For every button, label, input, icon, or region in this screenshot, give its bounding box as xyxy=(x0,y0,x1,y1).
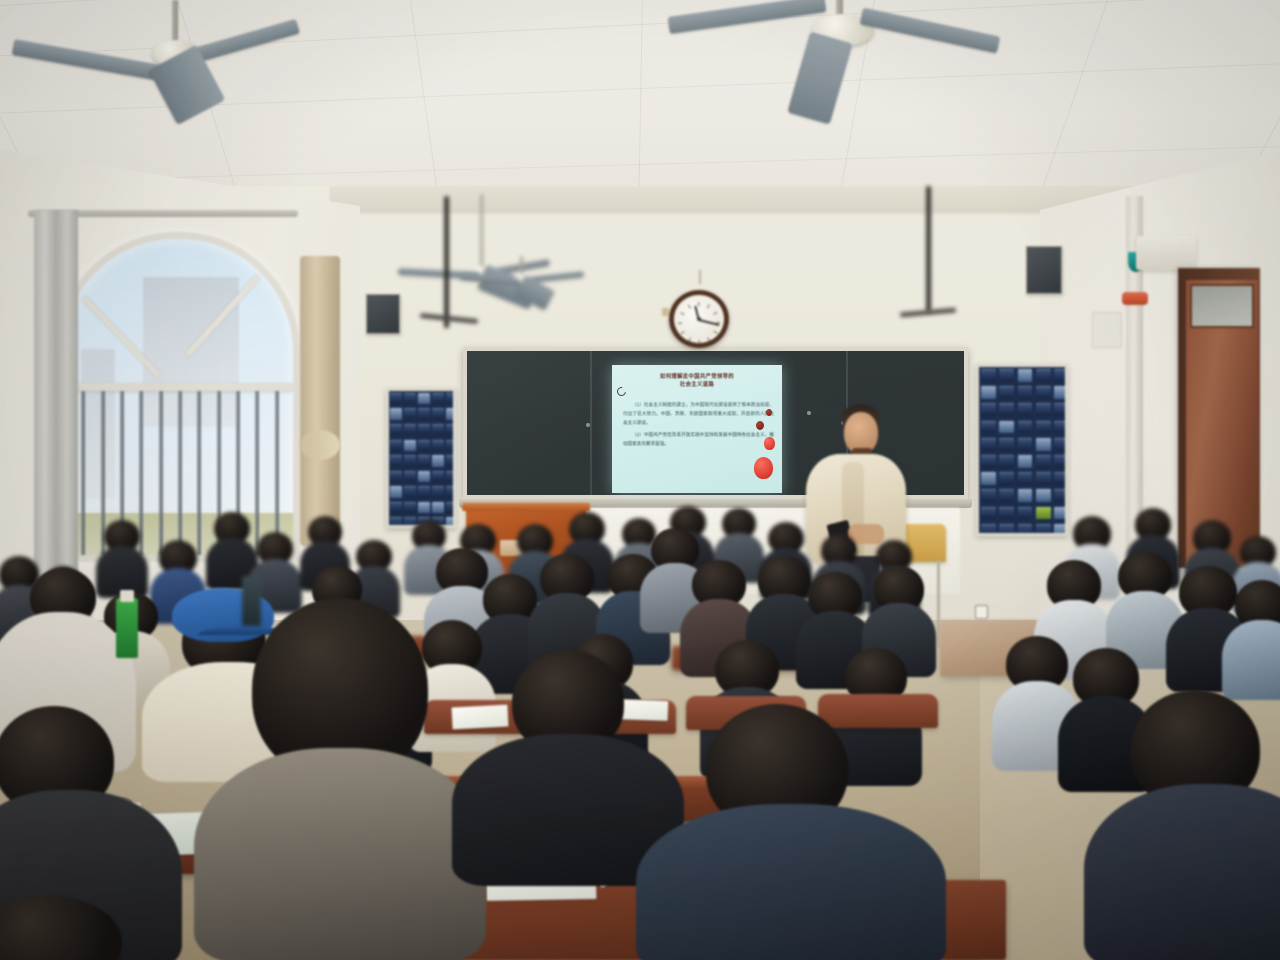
blackboard-screw xyxy=(586,423,590,427)
phone-pocket xyxy=(981,438,996,451)
phone-pocket xyxy=(446,502,456,514)
clock-knob xyxy=(662,308,669,316)
clock-tick xyxy=(707,337,710,341)
phone-pocket xyxy=(1054,455,1068,468)
blackboard-seam xyxy=(590,351,592,495)
student-bottom-edge-left xyxy=(0,896,124,960)
wall-clock xyxy=(669,282,731,348)
clock-tick xyxy=(707,304,710,308)
phone-pocket xyxy=(446,408,456,420)
window xyxy=(56,232,300,562)
phone-pocket xyxy=(446,393,456,405)
phone-pocket xyxy=(1036,421,1051,434)
clock-tick xyxy=(698,302,699,306)
classroom-photo: 如何理解走中国共产党领导的 社会主义道路 （1）社会主义制度的建立，为中国现代化… xyxy=(0,0,1280,960)
window-transom-bar xyxy=(63,383,293,391)
phone-pocket xyxy=(404,471,415,483)
fan-rear xyxy=(486,256,596,326)
fan-front-right xyxy=(740,0,1020,132)
student-torso xyxy=(636,804,946,960)
phone-pocket xyxy=(1036,472,1051,485)
phone-pocket xyxy=(1018,421,1033,434)
phone-pocket xyxy=(390,486,401,498)
slide-paragraph-1: （1）社会主义制度的建立，为中国现代化建设提供了根本政治前提、付出了巨大努力。中… xyxy=(623,401,774,428)
balloon-large-icon xyxy=(754,457,773,479)
phone-pocket xyxy=(1054,421,1068,434)
speaker-left xyxy=(366,294,400,334)
phone-pocket xyxy=(999,472,1014,485)
phone-pocket xyxy=(390,440,401,452)
phone-pocket xyxy=(418,455,429,467)
curtain-tieback xyxy=(300,430,340,460)
phone-pocket xyxy=(446,455,456,467)
phone-pocket xyxy=(999,455,1014,468)
phone-pocket xyxy=(1018,369,1033,382)
phone-pocket xyxy=(418,393,429,405)
phone-pocket xyxy=(404,424,415,436)
phone-pocket xyxy=(404,393,415,405)
phone-pocket xyxy=(432,424,443,436)
pipe-ring xyxy=(1122,292,1148,305)
phone-pocket xyxy=(1054,403,1068,416)
phone-pocket xyxy=(1018,386,1033,399)
ceiling-rod-right xyxy=(926,186,931,312)
clock-body xyxy=(669,290,729,348)
phone-pocket xyxy=(981,455,996,468)
phone-pocket xyxy=(432,440,443,452)
fan-blade xyxy=(188,19,300,64)
phone-pocket xyxy=(1018,438,1033,451)
phone-pocket xyxy=(999,386,1014,399)
clock-tick xyxy=(680,331,684,334)
phone-pocket xyxy=(981,369,996,382)
phone-pocket xyxy=(390,471,401,483)
window-bar xyxy=(81,391,85,555)
phone-pocket xyxy=(981,386,996,399)
student-torso xyxy=(1222,620,1280,700)
phone-pocket xyxy=(1036,524,1051,536)
phone-pocket xyxy=(1018,455,1033,468)
student-torso xyxy=(194,748,486,960)
ceiling-rod-left xyxy=(444,196,449,328)
phone-pocket xyxy=(981,524,996,536)
clock-center-pin xyxy=(697,317,701,321)
phone-pocket xyxy=(1018,524,1033,536)
phone-pocket xyxy=(446,440,456,452)
window-bar xyxy=(159,391,163,555)
phone-pocket xyxy=(999,369,1014,382)
phone-pocket xyxy=(432,455,443,467)
phone-pocket xyxy=(446,486,456,498)
phone-pocket xyxy=(390,517,401,528)
phone-pocket xyxy=(1018,507,1033,520)
phone-pocket xyxy=(390,408,401,420)
clock-tick xyxy=(680,312,684,315)
student-foreground-right xyxy=(1104,690,1280,960)
phone-pocket xyxy=(432,408,443,420)
phone-pocket xyxy=(404,408,415,420)
phone-pocket xyxy=(1036,438,1051,451)
slide-title-line-1: 如何理解走中国共产党领导的 xyxy=(622,373,772,381)
bottle-cap xyxy=(120,590,134,602)
phone-pocket xyxy=(1018,403,1033,416)
phone-pocket xyxy=(390,424,401,436)
phone-pocket xyxy=(390,502,401,514)
curtain-left xyxy=(34,210,78,582)
phone-pocket xyxy=(418,408,429,420)
phone-pocket xyxy=(1036,455,1051,468)
slide-title: 如何理解走中国共产党领导的 社会主义道路 xyxy=(622,373,772,390)
door-transom-window xyxy=(1190,284,1254,328)
clock-face xyxy=(677,298,721,340)
phone-pocket xyxy=(1018,472,1033,485)
phone-pocket xyxy=(432,502,443,514)
window-frame xyxy=(56,232,300,562)
phone-pocket xyxy=(1054,438,1068,451)
phone-pocket xyxy=(432,471,443,483)
phone-pocket xyxy=(404,502,415,514)
phone-pocket xyxy=(418,424,429,436)
window-bar xyxy=(178,391,182,555)
balloon-small-icon xyxy=(756,421,764,430)
phone-pocket xyxy=(418,502,429,514)
wall-patch xyxy=(1092,312,1122,348)
slide-paragraph-2: （2）中国共产党在改革开放实践中坚持和发展中国特色社会主义，推动国家走向繁荣富强… xyxy=(623,431,774,449)
phone-pocket xyxy=(404,455,415,467)
clock-tick xyxy=(713,331,717,334)
phone-pocket xyxy=(390,455,401,467)
phone-pocket xyxy=(1036,369,1051,382)
fan-front-left xyxy=(60,0,290,150)
phone-pocket xyxy=(1054,489,1068,502)
clock-tick xyxy=(688,304,691,308)
phone-pocket xyxy=(404,440,415,452)
speaker-right xyxy=(1026,246,1062,294)
fan-rod xyxy=(480,194,483,270)
pocket-board-right xyxy=(976,364,1068,536)
student-head xyxy=(0,896,122,960)
clock-tick xyxy=(678,322,682,323)
student-foreground-center-left xyxy=(204,598,464,960)
phone-pocket xyxy=(1036,507,1051,520)
phone-pocket xyxy=(999,403,1014,416)
phone-pocket xyxy=(1036,403,1051,416)
phone-pocket xyxy=(999,524,1014,536)
clock-tick xyxy=(698,340,699,344)
slide-title-line-2: 社会主义道路 xyxy=(622,381,772,389)
student-foreground-navy xyxy=(640,704,940,960)
phone-pocket xyxy=(981,489,996,502)
balloon-medium-icon xyxy=(764,437,775,450)
phone-pocket xyxy=(1054,369,1068,382)
phone-pocket xyxy=(418,486,429,498)
window-bar xyxy=(197,391,201,555)
phone-pocket xyxy=(418,440,429,452)
phone-pocket xyxy=(999,421,1014,434)
podium-top xyxy=(462,503,590,511)
window-bar xyxy=(275,391,279,555)
phone-pocket xyxy=(999,489,1014,502)
phone-pocket xyxy=(981,472,996,485)
balloon-tiny-icon xyxy=(766,409,772,416)
phone-pocket xyxy=(1054,386,1068,399)
phone-pocket xyxy=(981,403,996,416)
projected-slide: 如何理解走中国共产党领导的 社会主义道路 （1）社会主义制度的建立，为中国现代化… xyxy=(612,365,782,493)
phone-pocket xyxy=(981,421,996,434)
phone-pocket xyxy=(418,471,429,483)
slide-body: （1）社会主义制度的建立，为中国现代化建设提供了根本政治前提、付出了巨大努力。中… xyxy=(623,401,774,452)
water-bottle-green[interactable] xyxy=(116,598,138,658)
student-torso xyxy=(1084,784,1280,960)
phone-pocket xyxy=(432,393,443,405)
fan-blade xyxy=(787,32,852,125)
phone-pocket xyxy=(390,393,401,405)
phone-pocket xyxy=(999,438,1014,451)
phone-pocket xyxy=(1054,472,1068,485)
phone-pocket xyxy=(432,486,443,498)
clock-tick xyxy=(688,337,691,341)
phone-pocket xyxy=(446,424,456,436)
phone-pocket xyxy=(446,471,456,483)
curtain-right xyxy=(300,256,340,546)
phone-pocket xyxy=(1018,489,1033,502)
phone-pocket xyxy=(999,507,1014,520)
ac-unit xyxy=(1136,236,1196,270)
pocket-board-left xyxy=(386,388,456,528)
phone-pocket xyxy=(404,486,415,498)
fan-blade xyxy=(860,8,1000,54)
clock-hanger xyxy=(699,270,701,284)
clock-tick xyxy=(713,312,717,315)
window-diamond-mullion xyxy=(89,279,277,387)
phone-pocket xyxy=(1036,489,1051,502)
phone-pocket xyxy=(1036,386,1051,399)
phone-pocket xyxy=(981,507,996,520)
wall-socket[interactable] xyxy=(975,605,988,619)
student xyxy=(1222,580,1280,700)
clock-tick xyxy=(716,322,720,323)
